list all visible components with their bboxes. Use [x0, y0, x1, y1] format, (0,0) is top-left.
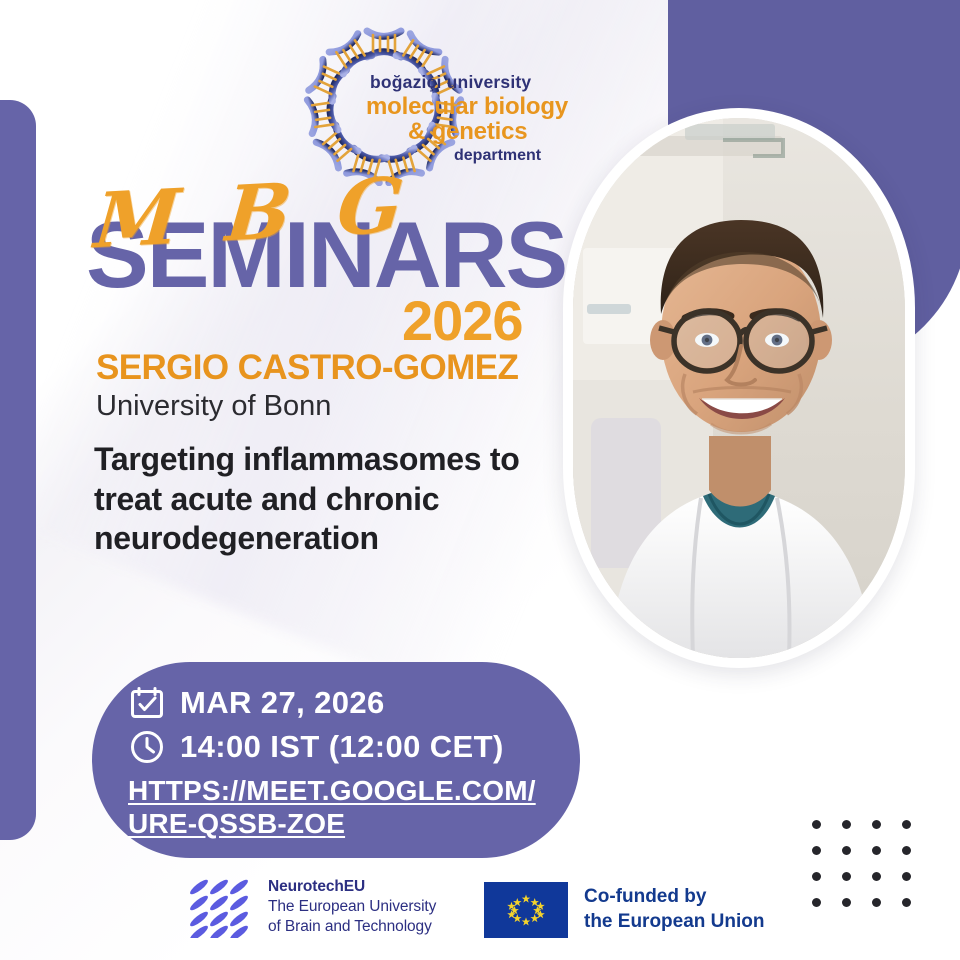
logo-line-molecular-biology: molecular biology [366, 95, 574, 119]
neurotecheu-slashes-icon [186, 876, 252, 938]
neurotecheu-name: NeurotechEU [268, 878, 365, 895]
event-date-row: MAR 27, 2026 [128, 684, 550, 722]
clock-icon [128, 728, 166, 766]
speaker-portrait [573, 118, 905, 658]
talk-title: Targeting inflammasomes to treat acute a… [94, 440, 524, 559]
neurotecheu-tagline-1: The European University [268, 898, 436, 915]
event-time: 14:00 IST (12:00 CET) [180, 729, 504, 765]
dot-grid-decoration [812, 820, 932, 924]
event-details-card: MAR 27, 2026 14:00 IST (12:00 CET) HTTPS… [92, 662, 580, 858]
portrait-illustration [573, 118, 905, 658]
eu-cofunding-logo: Co-funded by the European Union [484, 882, 765, 938]
seminar-poster: boğaziçi university molecular biology & … [0, 0, 960, 960]
neurotecheu-text: NeurotechEU The European University of B… [268, 877, 436, 936]
logo-line-university: boğaziçi university [366, 74, 574, 92]
event-time-row: 14:00 IST (12:00 CET) [128, 728, 550, 766]
european-union-flag-icon [484, 882, 568, 938]
eu-cofunding-line-1: Co-funded by [584, 886, 706, 907]
speaker-name: SERGIO CASTRO-GOMEZ [96, 348, 518, 388]
speaker-affiliation: University of Bonn [96, 390, 331, 423]
eu-cofunding-text: Co-funded by the European Union [584, 885, 765, 934]
department-logo: boğaziçi university molecular biology & … [296, 26, 576, 186]
eu-cofunding-line-2: the European Union [584, 911, 765, 932]
meeting-link[interactable]: HTTPS://MEET.GOOGLE.COM/URE-QSSB-ZOE [128, 774, 550, 840]
purple-left-bar [0, 100, 36, 840]
seminar-year: 2026 [402, 288, 523, 353]
calendar-check-icon [128, 684, 166, 722]
event-date: MAR 27, 2026 [180, 685, 385, 721]
neurotecheu-tagline-2: of Brain and Technology [268, 918, 432, 935]
meeting-link-line1: HTTPS://MEET.GOOGLE.COM/ [128, 775, 536, 806]
mbg-script-title: M B G [91, 160, 417, 265]
meeting-link-line2: URE-QSSB-ZOE [128, 808, 345, 839]
logo-line-genetics: & genetics [366, 120, 574, 144]
neurotecheu-logo: NeurotechEU The European University of B… [186, 876, 436, 938]
speaker-photo-frame [563, 108, 915, 668]
